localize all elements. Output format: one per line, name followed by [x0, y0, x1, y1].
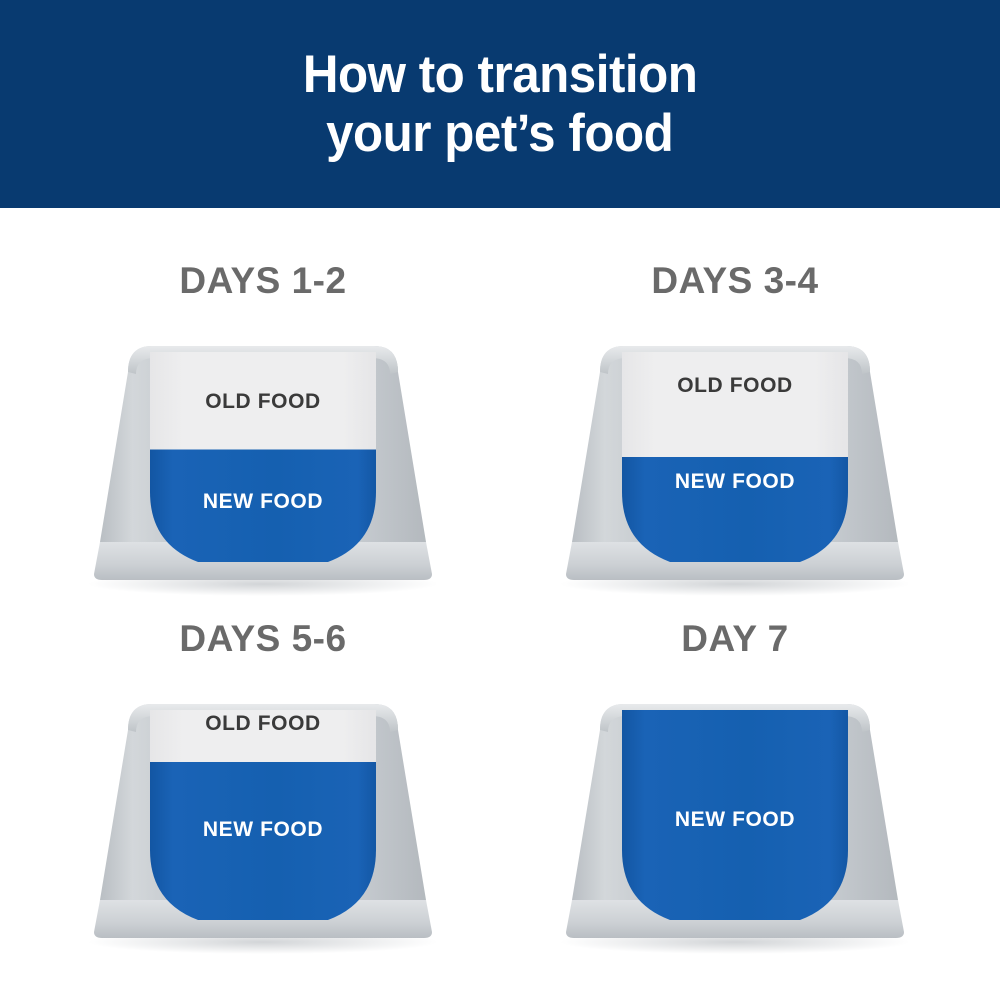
page-title-line-2: your pet’s food [326, 104, 673, 163]
bowl-days-3-4: OLD FOOD NEW FOOD [500, 312, 970, 612]
bowl-graphic [28, 670, 498, 970]
bowl-cavity [610, 700, 860, 940]
bowl-graphic [28, 312, 498, 612]
step-card-days-1-2: DAYS 1-2 [28, 260, 498, 645]
bowl-days-5-6: OLD FOOD NEW FOOD [28, 670, 498, 970]
bowl-graphic [500, 670, 970, 970]
bowl-cavity [138, 700, 388, 942]
page-title-line-1: How to transition [303, 45, 698, 104]
infographic-page: How to transition your pet’s food DAYS 1… [0, 0, 1000, 1000]
step-card-day-7: DAY 7 NEW FOOD [500, 618, 970, 1000]
bowl-day-7: NEW FOOD [500, 670, 970, 970]
bowl-graphic [500, 312, 970, 612]
header-banner: How to transition your pet’s food [0, 0, 1000, 208]
bowl-cavity [610, 342, 860, 582]
step-title: DAYS 3-4 [500, 260, 970, 302]
step-card-days-3-4: DAYS 3-4 OLD [500, 260, 970, 645]
bowl-cavity [138, 342, 388, 580]
steps-grid: DAYS 1-2 [0, 208, 1000, 1000]
new-food-fill [610, 700, 860, 940]
step-title: DAYS 1-2 [28, 260, 498, 302]
step-card-days-5-6: DAYS 5-6 OLD [28, 618, 498, 1000]
step-title: DAY 7 [500, 618, 970, 660]
bowl-days-1-2: OLD FOOD NEW FOOD [28, 312, 498, 612]
step-title: DAYS 5-6 [28, 618, 498, 660]
